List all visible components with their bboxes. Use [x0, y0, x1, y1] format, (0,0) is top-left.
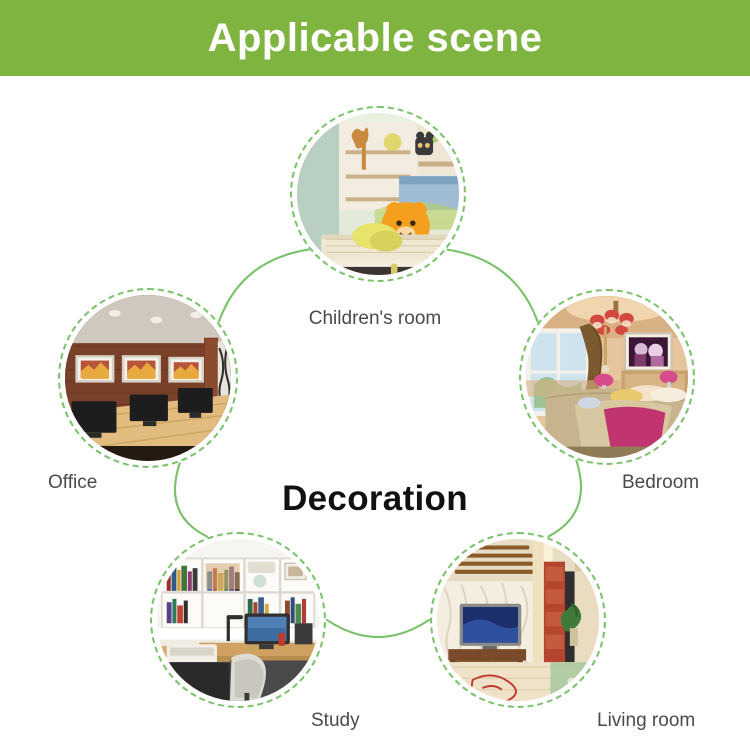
node-label-living-room: Living room	[597, 711, 695, 730]
dashed-ring-study	[150, 532, 326, 708]
node-label-childrens-room: Children's room	[0, 309, 750, 328]
header-banner: Applicable scene	[0, 0, 750, 76]
scene-node-living-room[interactable]	[430, 532, 606, 708]
page-title: Applicable scene	[208, 18, 543, 58]
dashed-ring-living-room	[430, 532, 606, 708]
scene-node-childrens-room[interactable]	[290, 106, 466, 282]
dashed-ring-childrens-room	[290, 106, 466, 282]
node-label-study: Study	[311, 711, 360, 730]
node-label-bedroom: Bedroom	[622, 473, 699, 492]
connector-arc-living-room-to-study	[327, 620, 429, 637]
scene-diagram: Decoration Children's roomBedroomLiving …	[0, 76, 750, 750]
applicable-scene-infographic: Applicable scene Decoration Children's r…	[0, 0, 750, 750]
scene-node-study[interactable]	[150, 532, 326, 708]
node-label-office: Office	[48, 473, 97, 492]
